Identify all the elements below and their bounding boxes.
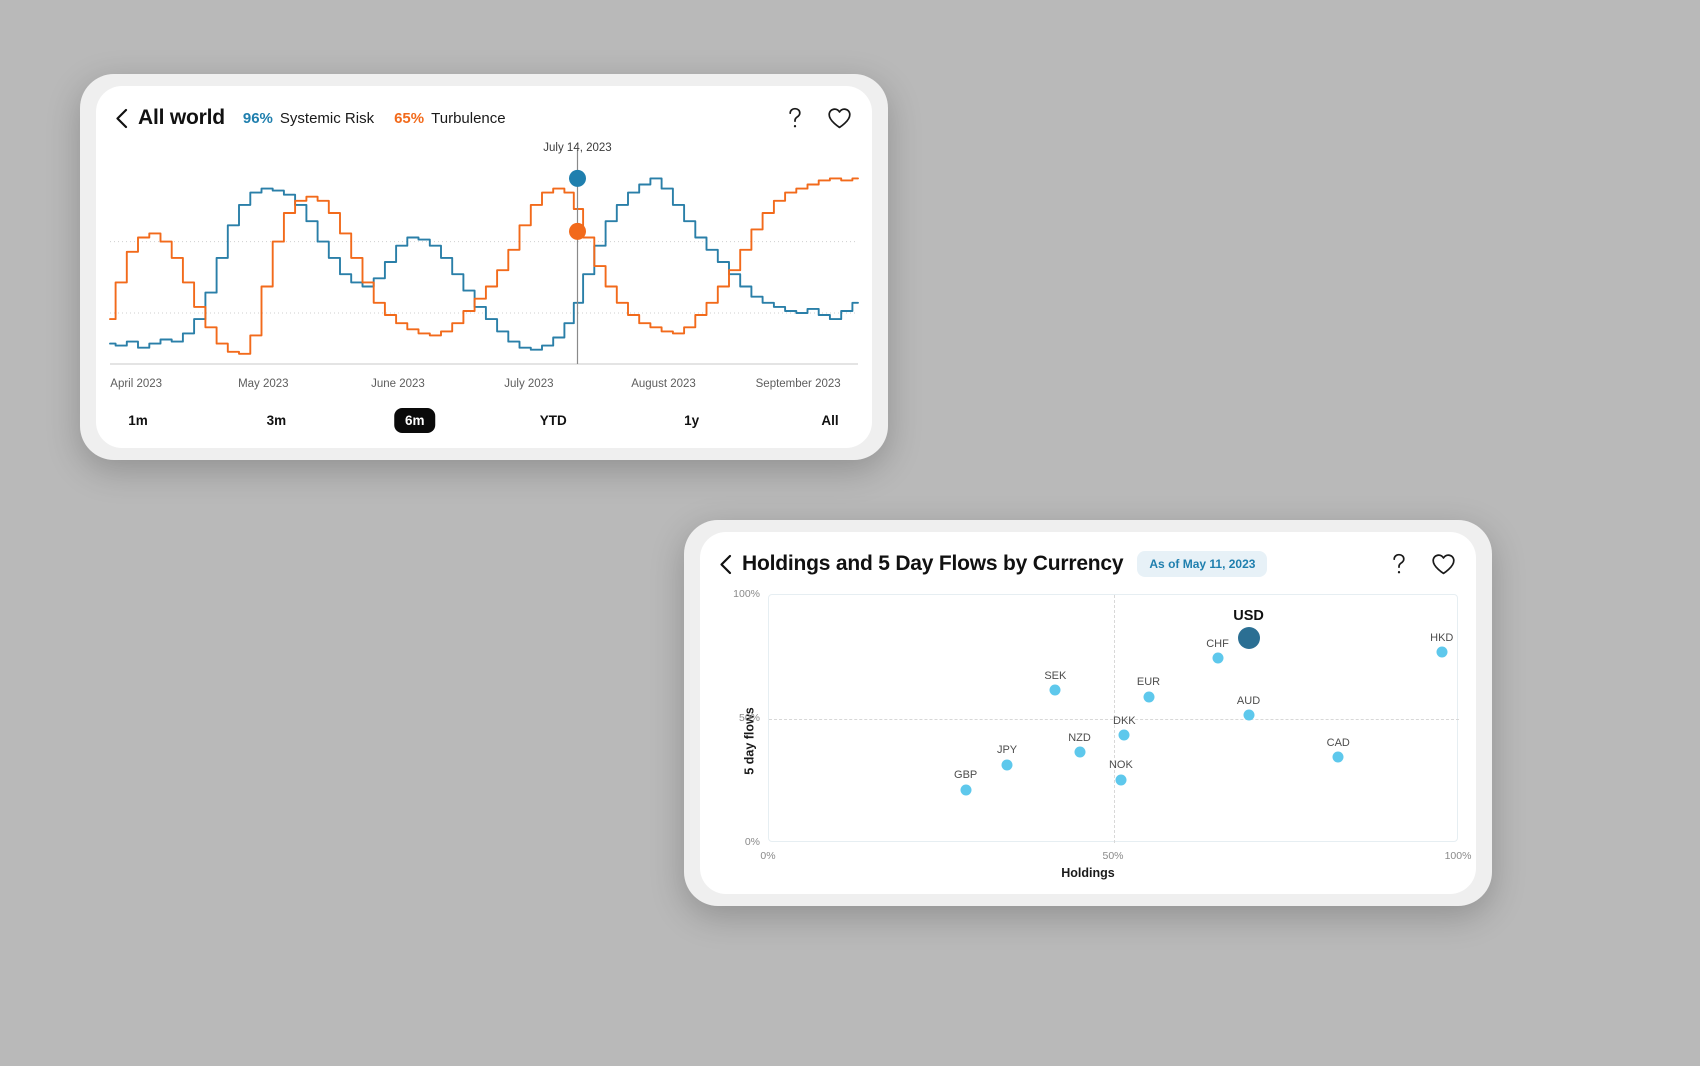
- scatter-point-cad[interactable]: [1333, 752, 1344, 763]
- metric-value: 96%: [243, 110, 273, 127]
- range-button-all[interactable]: All: [810, 408, 849, 433]
- scatter-point-aud[interactable]: [1243, 710, 1254, 721]
- risk-line-chart-svg: [96, 142, 872, 392]
- scatter-y-tick: 50%: [739, 712, 760, 724]
- scatter-point-dkk[interactable]: [1119, 730, 1130, 741]
- chart-annotation-date: July 14, 2023: [543, 142, 611, 154]
- heart-icon[interactable]: [1430, 551, 1456, 577]
- chevron-left-icon[interactable]: [110, 107, 132, 129]
- scatter-point-gbp[interactable]: [960, 784, 971, 795]
- scatter-x-tick: 50%: [1102, 850, 1123, 862]
- flows-card: Holdings and 5 Day Flows by Currency As …: [700, 532, 1476, 894]
- data-marker: [569, 223, 586, 240]
- metric-value: 65%: [394, 110, 424, 127]
- risk-header-actions: [782, 105, 852, 131]
- range-button-6m[interactable]: 6m: [394, 408, 436, 433]
- risk-metrics: 96% Systemic Risk 65% Turbulence: [243, 110, 506, 127]
- scatter-label-cad: CAD: [1327, 737, 1350, 749]
- scatter-point-usd[interactable]: [1238, 627, 1260, 649]
- page-title: Holdings and 5 Day Flows by Currency: [742, 552, 1123, 576]
- scatter-label-eur: EUR: [1137, 676, 1160, 688]
- metric-turbulence: 65% Turbulence: [394, 110, 506, 127]
- scatter-point-chf[interactable]: [1212, 653, 1223, 664]
- x-axis-tick-label: August 2023: [631, 378, 696, 390]
- scatter-point-jpy[interactable]: [1002, 759, 1013, 770]
- scatter-point-hkd[interactable]: [1436, 647, 1447, 658]
- x-axis-tick-label: May 2023: [238, 378, 289, 390]
- scatter-label-nok: NOK: [1109, 759, 1133, 771]
- chevron-left-icon[interactable]: [714, 553, 736, 575]
- scatter-point-nok[interactable]: [1115, 774, 1126, 785]
- scatter-point-sek[interactable]: [1050, 685, 1061, 696]
- range-button-1y[interactable]: 1y: [673, 408, 710, 433]
- flows-header-actions: [1386, 551, 1456, 577]
- metric-systemic-risk: 96% Systemic Risk: [243, 110, 374, 127]
- question-mark-icon[interactable]: [782, 105, 808, 131]
- scatter-x-tick: 0%: [760, 850, 775, 862]
- scatter-x-tick: 100%: [1445, 850, 1472, 862]
- risk-card-header: All world 96% Systemic Risk 65% Turbulen…: [96, 86, 872, 150]
- page-title: All world: [138, 106, 225, 130]
- scatter-label-hkd: HKD: [1430, 632, 1453, 644]
- risk-chart-x-axis-labels: April 2023May 2023June 2023July 2023Augu…: [96, 378, 872, 398]
- scatter-label-sek: SEK: [1044, 670, 1066, 682]
- scatter-point-eur[interactable]: [1143, 691, 1154, 702]
- currency-scatter-chart: 5 day flows Holdings USDHKDCHFSEKEURAUDD…: [700, 588, 1476, 894]
- scatter-label-nzd: NZD: [1068, 732, 1091, 744]
- scatter-label-usd: USD: [1233, 608, 1264, 624]
- scatter-point-nzd[interactable]: [1074, 747, 1085, 758]
- scatter-y-tick: 100%: [733, 588, 760, 600]
- scatter-y-tick: 0%: [745, 836, 760, 848]
- range-button-1m[interactable]: 1m: [117, 408, 159, 433]
- x-axis-tick-label: June 2023: [371, 378, 425, 390]
- screen: All world 96% Systemic Risk 65% Turbulen…: [0, 0, 1700, 1066]
- flows-card-header: Holdings and 5 Day Flows by Currency As …: [700, 532, 1476, 596]
- line-series-1: [110, 178, 858, 353]
- scatter-label-gbp: GBP: [954, 769, 977, 781]
- x-axis-tick-label: September 2023: [756, 378, 841, 390]
- as-of-badge: As of May 11, 2023: [1137, 551, 1267, 577]
- question-mark-icon[interactable]: [1386, 551, 1412, 577]
- x-axis-tick-label: April 2023: [110, 378, 162, 390]
- data-marker: [569, 170, 586, 187]
- range-button-3m[interactable]: 3m: [256, 408, 298, 433]
- scatter-label-aud: AUD: [1237, 695, 1260, 707]
- scatter-x-axis-label: Holdings: [1061, 866, 1114, 880]
- risk-line-chart: July 14, 2023: [96, 142, 872, 392]
- range-button-ytd[interactable]: YTD: [529, 408, 578, 433]
- scatter-plot-area: USDHKDCHFSEKEURAUDDKKNZDCADJPYNOKGBP: [768, 594, 1458, 842]
- heart-icon[interactable]: [826, 105, 852, 131]
- metric-label: Turbulence: [431, 110, 506, 127]
- x-axis-tick-label: July 2023: [504, 378, 553, 390]
- time-range-selector: 1m3m6mYTD1yAll: [96, 408, 872, 442]
- risk-card: All world 96% Systemic Risk 65% Turbulen…: [96, 86, 872, 448]
- scatter-label-chf: CHF: [1206, 638, 1229, 650]
- line-series-0: [110, 178, 858, 349]
- scatter-label-dkk: DKK: [1113, 715, 1136, 727]
- scatter-label-jpy: JPY: [997, 744, 1017, 756]
- metric-label: Systemic Risk: [280, 110, 374, 127]
